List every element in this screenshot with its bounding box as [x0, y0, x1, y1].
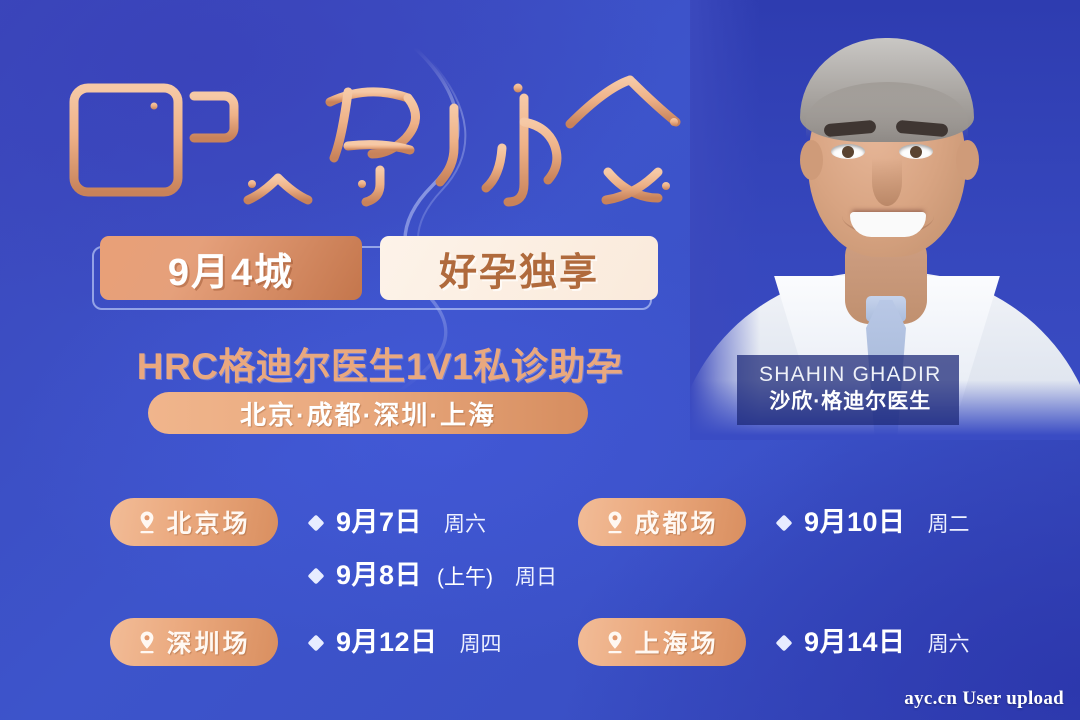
cities-pill-label: 北京·成都·深圳·上海 — [240, 395, 496, 432]
city-name-beijing: 北京场 — [166, 504, 250, 540]
city-pill-chengdu[interactable]: 成都场 — [578, 498, 746, 546]
location-pin-icon — [605, 510, 625, 534]
poster-canvas: SHAHIN GHADIR 沙欣·格迪尔医生 — [0, 0, 1080, 720]
date-weekday: 周四 — [460, 628, 502, 658]
date-main: 9月14日 — [804, 620, 906, 659]
doctor-name-caption: SHAHIN GHADIR 沙欣·格迪尔医生 — [737, 355, 959, 425]
date-list-chengdu: 9月10日 周二 — [778, 498, 970, 553]
cities-pill: 北京·成都·深圳·上海 — [148, 392, 588, 434]
badge-9yue4cheng: 9月4城 — [100, 236, 362, 300]
date-weekday: 周六 — [444, 508, 486, 538]
location-pin-icon — [137, 510, 157, 534]
diamond-bullet-icon — [308, 635, 325, 652]
schedule-cell-shanghai[interactable]: 上海场 9月14日 周六 — [578, 618, 970, 673]
doctor-name-cn: 沙欣·格迪尔医生 — [759, 390, 941, 414]
badge-haoyun-duxiang: 好孕独享 — [380, 236, 658, 300]
date-main: 9月8日 — [336, 553, 422, 592]
date-list-shenzhen: 9月12日 周四 — [310, 618, 502, 673]
city-pill-beijing[interactable]: 北京场 — [110, 498, 278, 546]
date-line: 9月14日 周六 — [778, 620, 970, 659]
date-list-shanghai: 9月14日 周六 — [778, 618, 970, 673]
date-note: (上午) — [437, 561, 493, 591]
diamond-bullet-icon — [776, 635, 793, 652]
schedule-cell-beijing[interactable]: 北京场 9月7日 周六 9月8日 (上午) 周日 — [110, 498, 557, 606]
date-weekday: 周六 — [928, 628, 970, 658]
date-line: 9月8日 (上午) 周日 — [310, 553, 557, 592]
date-weekday: 周日 — [515, 561, 557, 591]
doctor-name-en: SHAHIN GHADIR — [759, 363, 941, 387]
schedule-grid: 北京场 9月7日 周六 9月8日 (上午) 周日 — [0, 490, 1080, 690]
schedule-cell-chengdu[interactable]: 成都场 9月10日 周二 — [578, 498, 970, 553]
date-list-beijing: 9月7日 周六 9月8日 (上午) 周日 — [310, 498, 557, 606]
date-line: 9月12日 周四 — [310, 620, 502, 659]
page-title — [62, 62, 682, 212]
city-pill-shanghai[interactable]: 上海场 — [578, 618, 746, 666]
badge-right-label: 好孕独享 — [439, 241, 599, 296]
diamond-bullet-icon — [308, 515, 325, 532]
city-name-chengdu: 成都场 — [634, 504, 718, 540]
diamond-bullet-icon — [776, 515, 793, 532]
watermark: ayc.cn User upload — [904, 688, 1064, 710]
city-name-shanghai: 上海场 — [634, 624, 718, 660]
date-line: 9月7日 周六 — [310, 500, 557, 539]
date-weekday: 周二 — [928, 508, 970, 538]
city-name-shenzhen: 深圳场 — [166, 624, 250, 660]
date-line: 9月10日 周二 — [778, 500, 970, 539]
diamond-bullet-icon — [308, 568, 325, 585]
location-pin-icon — [605, 630, 625, 654]
subtitle: HRC格迪尔医生1V1私诊助孕 — [100, 336, 660, 390]
location-pin-icon — [137, 630, 157, 654]
city-pill-shenzhen[interactable]: 深圳场 — [110, 618, 278, 666]
date-main: 9月7日 — [336, 500, 422, 539]
schedule-cell-shenzhen[interactable]: 深圳场 9月12日 周四 — [110, 618, 502, 673]
badge-left-label: 9月4城 — [168, 241, 294, 296]
headline-badge-row: 9月4城 好孕独享 — [100, 236, 660, 304]
date-main: 9月10日 — [804, 500, 906, 539]
date-main: 9月12日 — [336, 620, 438, 659]
